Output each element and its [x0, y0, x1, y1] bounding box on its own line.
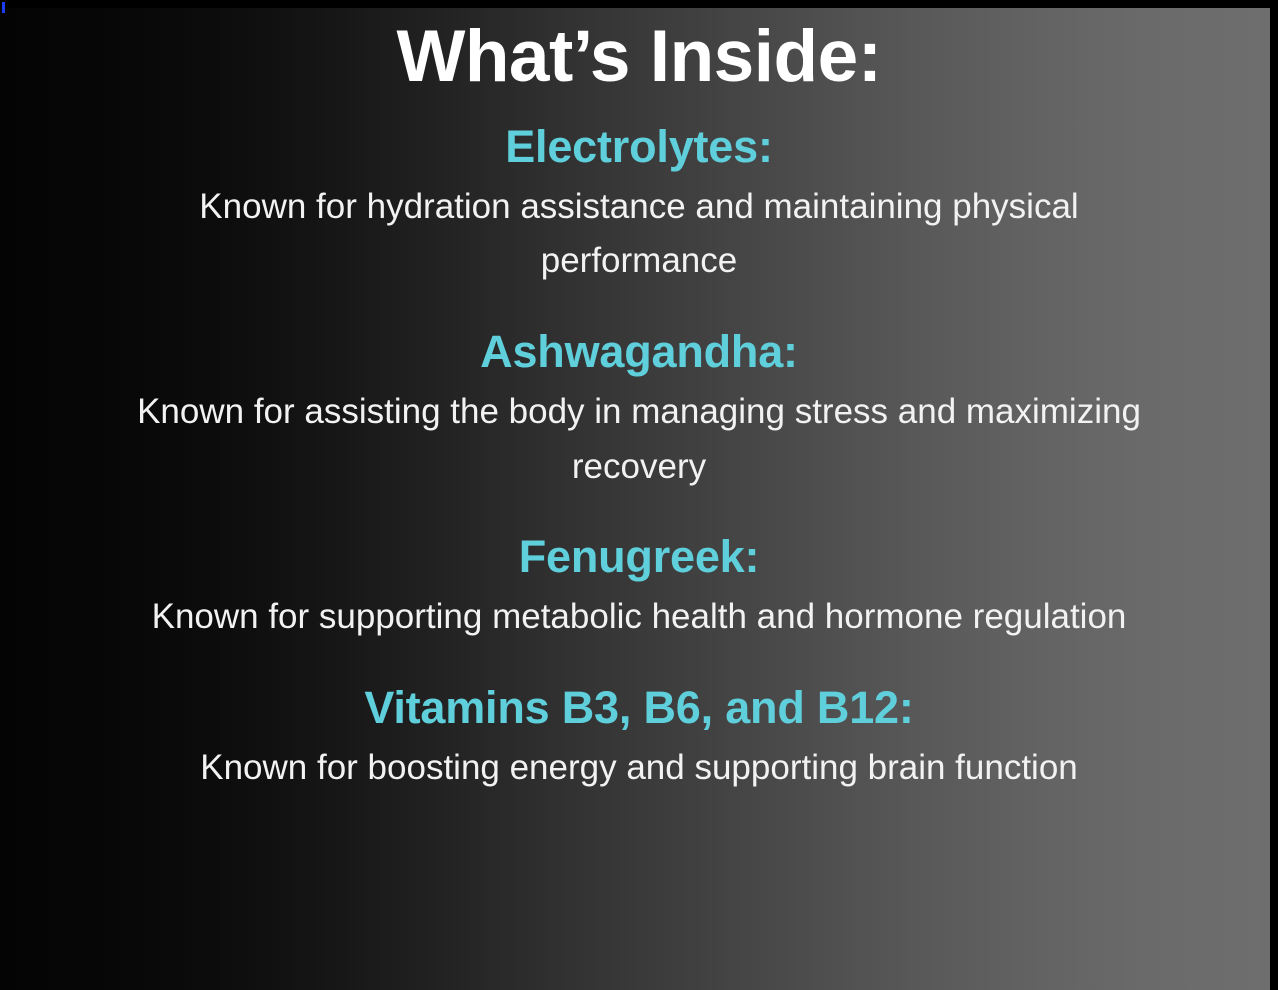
ingredient-name: Ashwagandha: — [0, 325, 1278, 379]
ingredient-name: Fenugreek: — [0, 530, 1278, 584]
page-title: What’s Inside: — [0, 0, 1278, 98]
ingredient-name: Electrolytes: — [0, 120, 1278, 174]
ingredient-section-electrolytes: Electrolytes: Known for hydration assist… — [0, 120, 1278, 289]
ingredient-description: Known for boosting energy and supporting… — [119, 741, 1159, 796]
ingredient-name: Vitamins B3, B6, and B12: — [0, 681, 1278, 735]
ingredient-description: Known for hydration assistance and maint… — [119, 180, 1159, 289]
slide-content: What’s Inside: Electrolytes: Known for h… — [0, 0, 1278, 990]
ingredient-description: Known for assisting the body in managing… — [119, 385, 1159, 494]
ingredient-section-ashwagandha: Ashwagandha: Known for assisting the bod… — [0, 325, 1278, 494]
ingredient-section-fenugreek: Fenugreek: Known for supporting metaboli… — [0, 530, 1278, 645]
ingredient-description: Known for supporting metabolic health an… — [119, 590, 1159, 645]
ingredient-section-vitamins: Vitamins B3, B6, and B12: Known for boos… — [0, 681, 1278, 796]
slide-canvas: What’s Inside: Electrolytes: Known for h… — [0, 0, 1278, 990]
